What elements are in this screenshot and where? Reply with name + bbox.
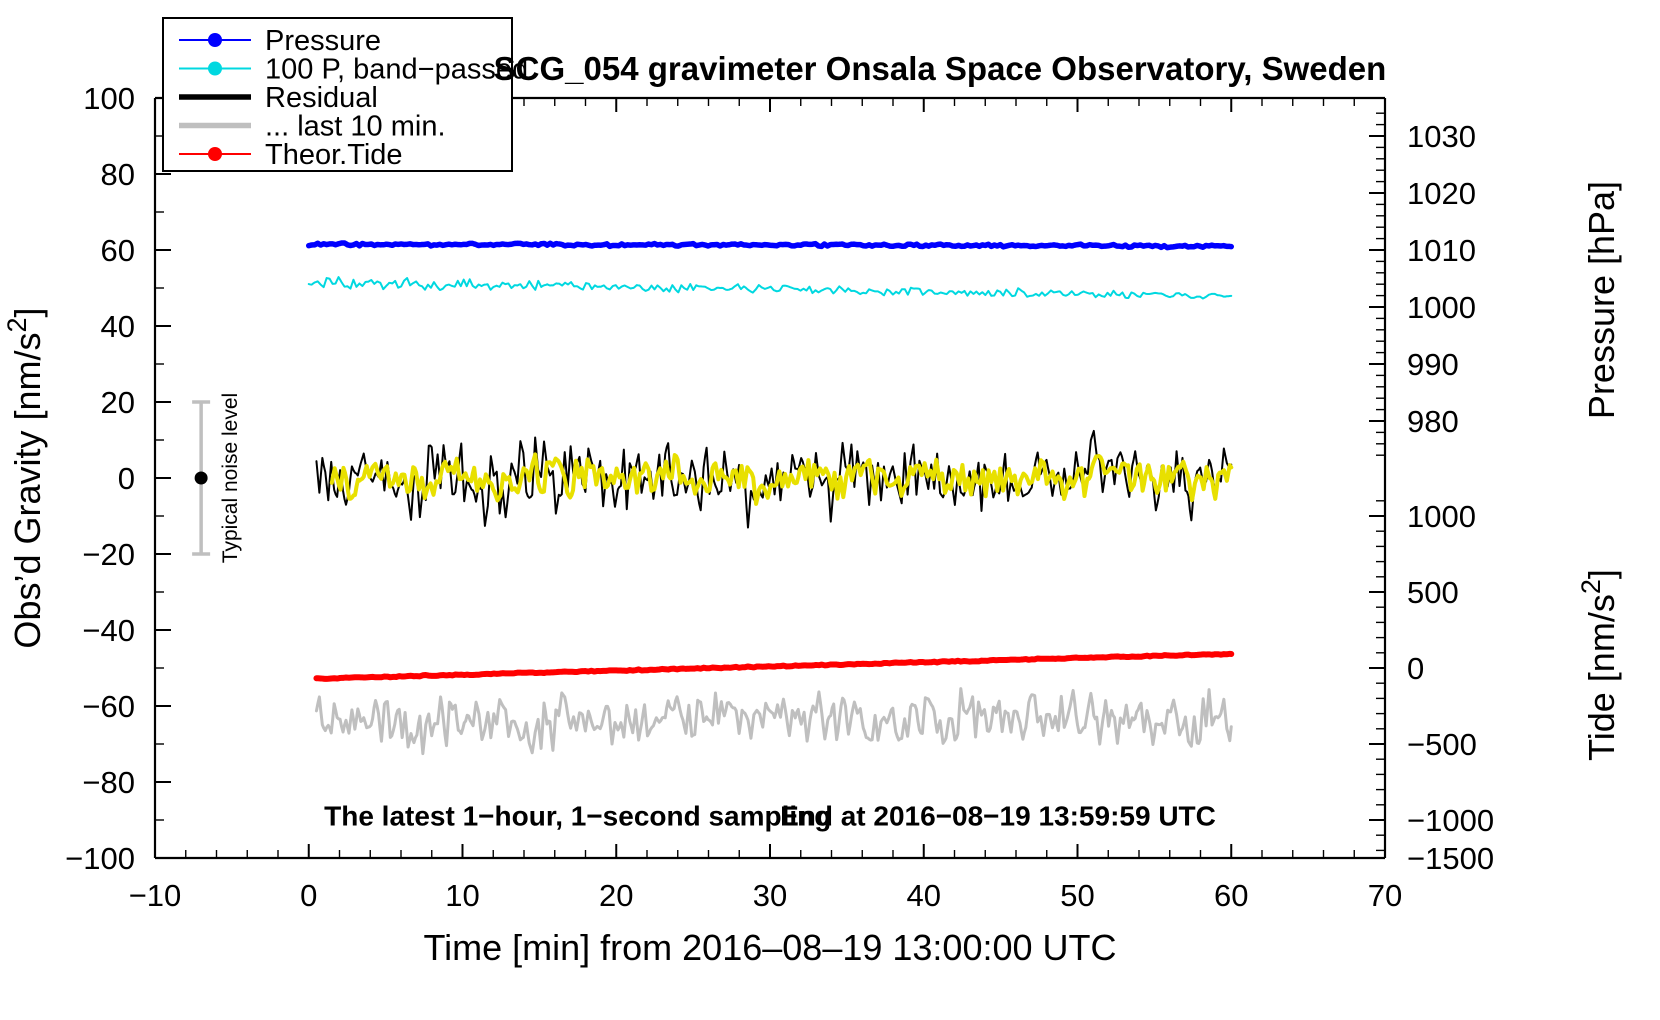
x-tick-label: 40 [907, 878, 941, 913]
legend[interactable]: Pressure100 P, band−passedResidual... la… [163, 18, 528, 171]
x-tick-label: 70 [1368, 878, 1402, 913]
tide-tick-label: −500 [1407, 727, 1477, 762]
legend-label: Pressure [265, 25, 381, 57]
end-time-note: End at 2016−08−19 13:59:59 UTC [780, 801, 1216, 832]
x-tick-label: 0 [300, 878, 317, 913]
page-title: SCG_054 gravimeter Onsala Space Observat… [494, 50, 1387, 87]
y-tick-label: −100 [65, 841, 135, 876]
legend-swatch-dot [208, 147, 222, 161]
x-tick-label: 20 [599, 878, 633, 913]
tide-tick-label: 500 [1407, 575, 1459, 610]
x-tick-label: 10 [445, 878, 479, 913]
annotations-group: The latest 1−hour, 1−second samplingEnd … [324, 801, 1216, 832]
legend-swatch-dot [208, 33, 222, 47]
tide-tick-label: −1500 [1407, 841, 1494, 876]
pressure-tick-label: 990 [1407, 347, 1459, 382]
y-tick-label: −20 [82, 537, 135, 572]
pressure-tick-label: 1020 [1407, 176, 1476, 211]
pressure-tick-label: 1030 [1407, 119, 1476, 154]
chart-page: Typical noise level −1001020304050607010… [0, 0, 1660, 1020]
y-tick-label: 40 [101, 309, 135, 344]
legend-label: ... last 10 min. [265, 111, 446, 143]
tide-axis-title: Tide [nm/s2] [1576, 569, 1622, 761]
pressure-axis-title: Pressure [hPa] [1581, 181, 1622, 419]
legend-label: Theor.Tide [265, 139, 403, 171]
gravimeter-chart: Typical noise level −1001020304050607010… [0, 0, 1660, 1020]
tide-tick-label: −1000 [1407, 803, 1494, 838]
y-axis-title: Obs’d Gravity [nm/s2] [2, 307, 48, 648]
y-tick-label: 100 [83, 81, 135, 116]
y-tick-label: 60 [101, 233, 135, 268]
pressure-tick-label: 1000 [1407, 290, 1476, 325]
y-tick-label: 0 [118, 461, 135, 496]
x-tick-label: 50 [1060, 878, 1094, 913]
x-tick-label: −10 [129, 878, 182, 913]
y-tick-label: −80 [82, 765, 135, 800]
noise-center-dot [195, 472, 208, 485]
pressure-tick-label: 980 [1407, 404, 1459, 439]
y-tick-label: −60 [82, 689, 135, 724]
x-tick-label: 60 [1214, 878, 1248, 913]
sampling-note: The latest 1−hour, 1−second sampling [324, 801, 831, 832]
y-tick-label: −40 [82, 613, 135, 648]
x-axis-title: Time [min] from 2016–08–19 13:00:00 UTC [423, 927, 1116, 968]
legend-label: Residual [265, 82, 378, 114]
x-tick-label: 30 [753, 878, 787, 913]
pressure-tick-label: 1010 [1407, 233, 1476, 268]
legend-swatch-dot [208, 62, 222, 76]
series-pressure [309, 243, 1232, 248]
y-tick-label: 20 [101, 385, 135, 420]
noise-level-label: Typical noise level [219, 393, 242, 563]
tide-tick-label: 0 [1407, 651, 1424, 686]
y-tick-label: 80 [101, 157, 135, 192]
tide-tick-label: 1000 [1407, 499, 1476, 534]
legend-label: 100 P, band−passed [265, 54, 528, 86]
